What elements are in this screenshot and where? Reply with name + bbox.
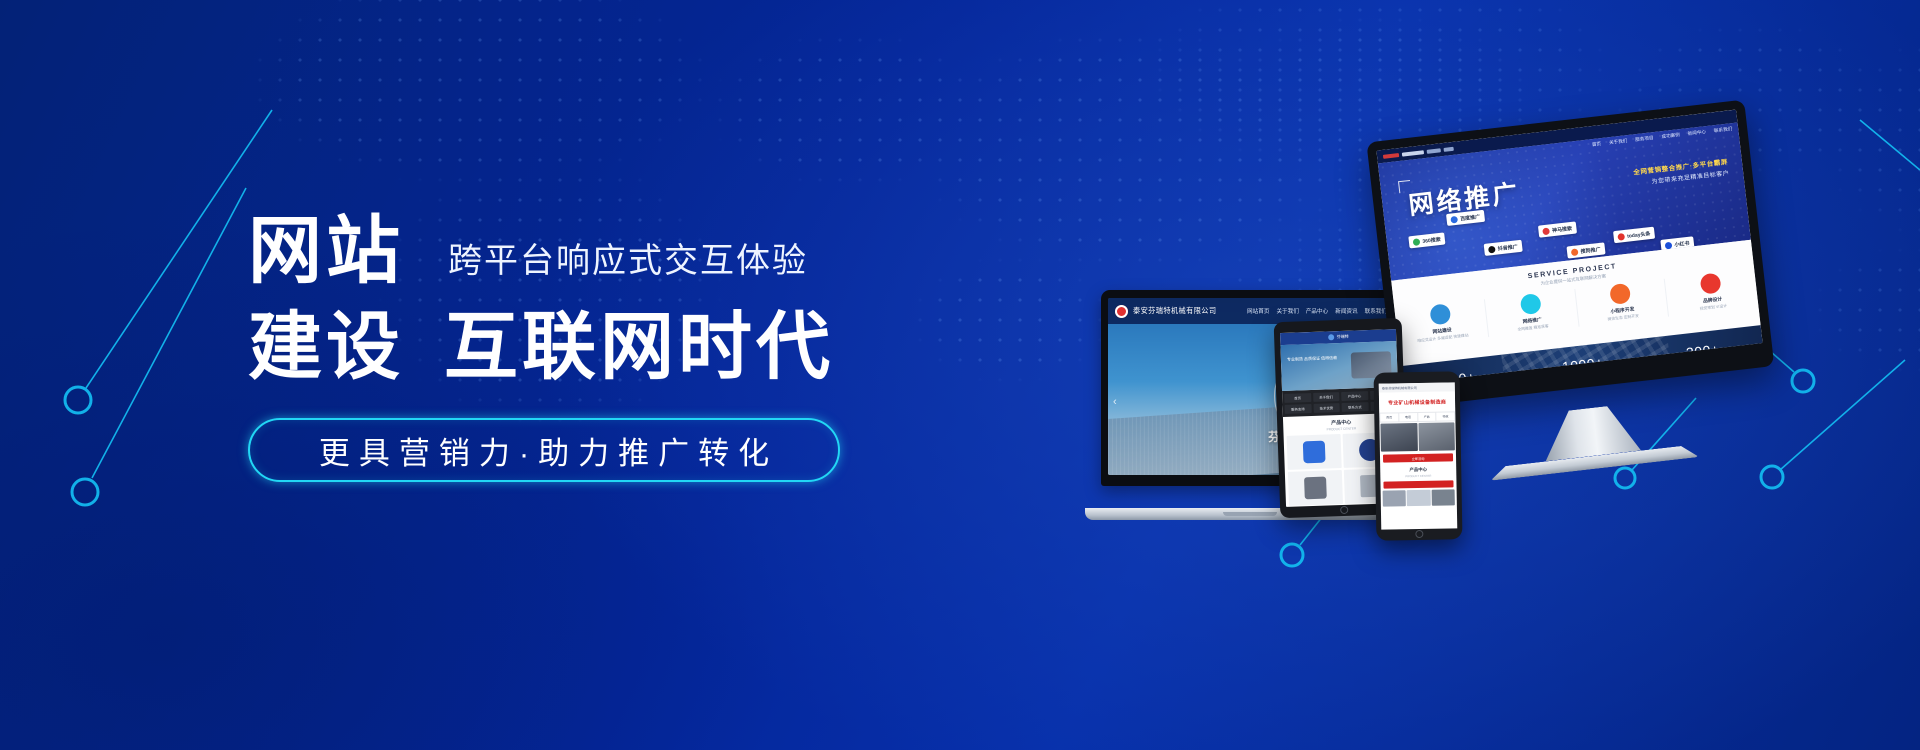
partner-logo-label: 百度推广 <box>1460 213 1481 222</box>
partner-logo-icon <box>1571 248 1579 256</box>
tablet-site-logo-icon <box>1328 334 1334 340</box>
partner-logo-icon <box>1542 227 1550 235</box>
headline-row-2: 建设 互联网时代 <box>248 310 888 384</box>
phone-hero-banner: 专业矿山机械设备制造商 <box>1379 391 1455 412</box>
partner-logo-badge: 360搜索 <box>1408 232 1445 248</box>
phone-screen: 泰安芬瑞特机械有限公司 专业矿山机械设备制造商 首页 电话 产品 导航 立即咨询 <box>1379 382 1458 529</box>
phone-product-thumbnail <box>1383 490 1407 506</box>
phone-product-thumbnail <box>1407 490 1431 506</box>
monitor-bezel: 首页 关于我们 服务项目 成功案例 新闻中心 联系我们 网络推广 全网营销整合推… <box>1366 100 1774 409</box>
phone-cta-label: 立即咨询 <box>1412 455 1425 460</box>
laptop-carousel-prev-icon: ‹ <box>1113 396 1117 408</box>
stat-value: 1000+ <box>1522 350 1644 380</box>
phone-section-subtitle: PRODUCT CENTER <box>1380 473 1456 478</box>
laptop-menu-item: 关于我们 <box>1276 307 1298 315</box>
headline-subtitle: 跨平台响应式交互体验 <box>448 233 808 288</box>
phone-tab-item: 产品 <box>1418 413 1436 421</box>
device-mockup-cluster: 泰安芬瑞特机械有限公司 网站首页 关于我们 产品中心 新闻资讯 联系我们 <box>1085 120 1885 640</box>
stat-label: 服务客户数 <box>1524 368 1645 384</box>
product-thumbnail <box>1303 441 1326 464</box>
phone-media-thumbnail <box>1380 423 1417 452</box>
tagline-badge: 更具营销力·助力推广转化 <box>248 418 840 482</box>
phone-more-bar[interactable] <box>1383 480 1453 488</box>
headline-main-line2: 建设 <box>248 310 404 384</box>
product-thumbnail <box>1304 477 1327 500</box>
laptop-menu-item: 新闻资讯 <box>1335 307 1357 315</box>
service-card-icon <box>1609 283 1631 305</box>
laptop-base-notch <box>1223 512 1277 516</box>
phone-product-thumbnail <box>1431 489 1455 505</box>
phone-tab-item: 导航 <box>1436 412 1454 420</box>
partner-logo-label: 小红书 <box>1674 239 1690 248</box>
tagline-text: 更具营销力·助力推广转化 <box>310 428 778 473</box>
laptop-site-logo-icon <box>1115 305 1128 318</box>
laptop-site-menu: 网站首页 关于我们 产品中心 新闻资讯 联系我们 <box>1247 307 1387 315</box>
tablet-menu-item: 首页 <box>1284 393 1311 403</box>
partner-logo-badge: 神马搜索 <box>1538 222 1577 238</box>
topbar-accent-bar <box>1383 153 1399 159</box>
laptop-site-brand: 泰安芬瑞特机械有限公司 <box>1133 306 1216 316</box>
tablet-menu-item: 关于我们 <box>1313 392 1340 402</box>
tablet-site-brand: 芬瑞特 <box>1337 334 1349 340</box>
topbar-accent-bar <box>1427 148 1441 154</box>
phone-site-brand: 泰安芬瑞特机械有限公司 <box>1382 385 1417 391</box>
headline-main-line1: 网站 <box>248 214 404 288</box>
service-card-icon <box>1429 303 1451 325</box>
topbar-accent-bar <box>1443 146 1453 151</box>
phone-media-thumbnail <box>1418 422 1455 451</box>
service-card-icon <box>1519 293 1541 315</box>
phone-home-button-icon <box>1415 530 1423 538</box>
partner-logo-badge: 抖音推广 <box>1484 240 1523 256</box>
partner-logo-icon <box>1488 245 1496 253</box>
tablet-menu-item: 联系方式 <box>1341 402 1368 412</box>
service-card: 小程序开发 微信生态 定制开发 <box>1575 279 1669 327</box>
phone-tab-item: 电话 <box>1399 413 1417 421</box>
partner-logo-label: today头条 <box>1627 230 1651 240</box>
partner-logo-label: 抖音推广 <box>1497 243 1518 252</box>
phone-mockup: 泰安芬瑞特机械有限公司 专业矿山机械设备制造商 首页 电话 产品 导航 立即咨询 <box>1374 371 1463 540</box>
partner-logo-icon <box>1413 238 1421 246</box>
partner-logo-icon <box>1617 233 1625 241</box>
partner-logo-label: 360搜索 <box>1422 235 1441 244</box>
partner-logo-label: 神马搜索 <box>1552 224 1573 233</box>
tablet-product-cell <box>1288 470 1343 506</box>
monitor-screen: 首页 关于我们 服务项目 成功案例 新闻中心 联系我们 网络推广 全网营销整合推… <box>1376 110 1762 384</box>
laptop-menu-item: 网站首页 <box>1247 307 1269 315</box>
tablet-menu-item: 技术优势 <box>1313 403 1340 413</box>
tablet-hero-caption: 专业制造 品质保证 值得信赖 <box>1287 355 1337 364</box>
partner-logo-badge: 搜狗推广 <box>1566 242 1605 258</box>
tablet-product-cell <box>1287 434 1342 470</box>
service-card: 网络推广 全网覆盖 精准获客 <box>1485 289 1579 337</box>
phone-cta-button[interactable]: 立即咨询 <box>1383 453 1453 462</box>
stat-value: 300+ <box>1642 336 1763 366</box>
headline-row-1: 网站 跨平台响应式交互体验 <box>248 214 888 288</box>
laptop-menu-item: 联系我们 <box>1365 307 1387 315</box>
headline-block: 网站 跨平台响应式交互体验 建设 互联网时代 更具营销力·助力推广转化 <box>248 214 888 482</box>
phone-tab-item: 首页 <box>1380 413 1398 421</box>
service-card: 品牌设计 视觉策划 VI设计 <box>1665 269 1758 317</box>
laptop-menu-item: 产品中心 <box>1306 307 1328 315</box>
tablet-menu-item: 服务支持 <box>1285 404 1312 414</box>
stat-item: 1000+ 服务客户数 <box>1522 350 1645 384</box>
tablet-menu-item: 产品中心 <box>1341 391 1368 401</box>
phone-media-row <box>1379 421 1456 452</box>
partner-logo-icon <box>1450 215 1458 223</box>
stat-label: 成功案例 <box>1644 354 1763 374</box>
stat-item: 300+ 成功案例 <box>1642 336 1763 374</box>
headline-secondary-line2: 互联网时代 <box>444 310 834 384</box>
phone-thumbnail-grid <box>1381 489 1457 506</box>
tablet-home-button-icon <box>1340 506 1348 514</box>
partner-logo-icon <box>1665 241 1673 249</box>
phone-hero-text: 专业矿山机械设备制造商 <box>1388 398 1446 406</box>
partner-logo-label: 搜狗推广 <box>1580 245 1601 254</box>
service-card-icon <box>1700 272 1722 294</box>
partner-logo-badge: 百度推广 <box>1446 210 1485 226</box>
topbar-accent-bar <box>1402 150 1424 156</box>
hero-banner: 网站 跨平台响应式交互体验 建设 互联网时代 更具营销力·助力推广转化 泰安芬瑞… <box>0 0 1920 750</box>
partner-logo-badge: today头条 <box>1613 227 1655 244</box>
service-card: 网站建设 响应式设计 多端适配 快速建站 <box>1394 299 1488 347</box>
